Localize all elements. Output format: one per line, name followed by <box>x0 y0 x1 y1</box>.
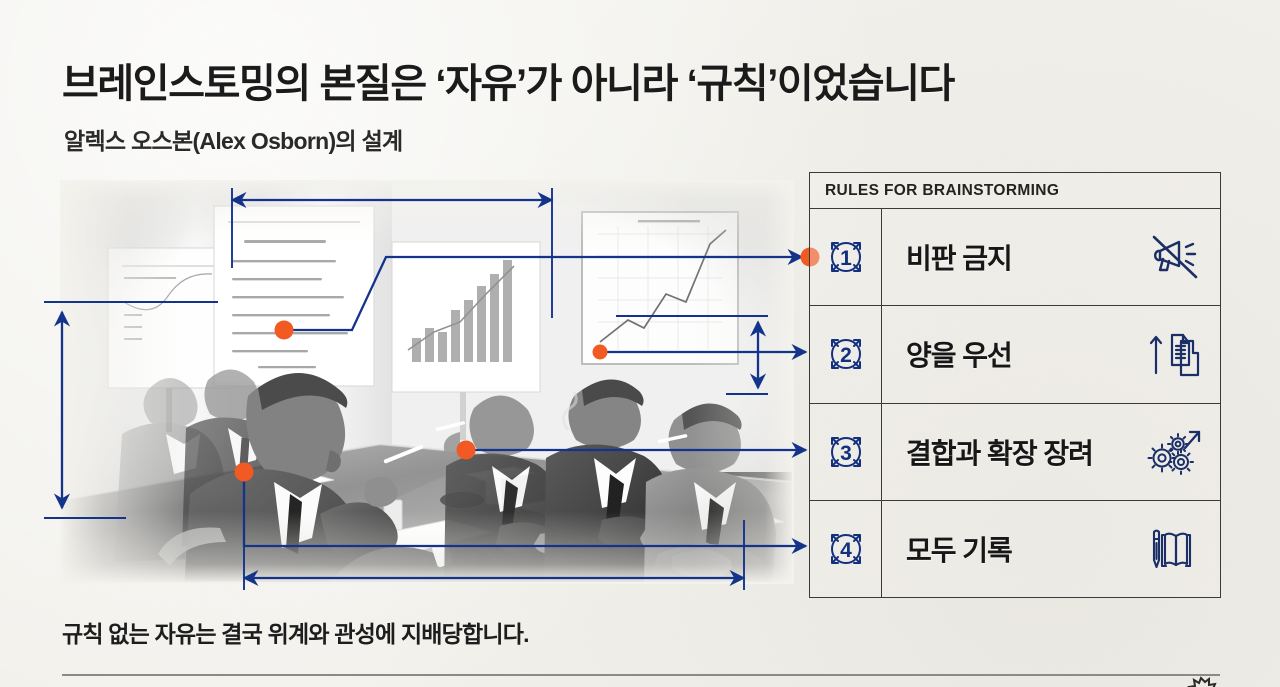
rule-number-2: 2 <box>840 344 852 367</box>
page-subtitle: 알렉스 오스본(Alex Osborn)의 설계 <box>64 122 403 156</box>
rule-row-1[interactable]: 1 비판 금지 <box>810 209 1220 306</box>
boardroom-photo-image <box>62 182 792 582</box>
rule-label-1: 비판 금지 <box>882 237 1136 277</box>
footer-gear-mark-icon <box>1152 676 1224 687</box>
rules-panel: RULES FOR BRAINSTORMING 1 <box>809 172 1221 598</box>
rules-panel-header: RULES FOR BRAINSTORMING <box>810 173 1220 209</box>
rule-label-2: 양을 우선 <box>882 334 1136 374</box>
footer-caption: 규칙 없는 자유는 결국 위계와 관성에 지배당합니다. <box>62 615 529 649</box>
rule-label-4: 모두 기록 <box>882 529 1136 569</box>
rule-row-4[interactable]: 4 모두 기록 <box>810 501 1220 597</box>
rule-label-3: 결합과 확장 장려 <box>882 432 1136 472</box>
slide-canvas: 브레인스토밍의 본질은 ‘자유’가 아니라 ‘규칙’이었습니다 알렉스 오스본(… <box>0 0 1280 687</box>
footer-divider <box>62 674 1220 676</box>
rules-list: 1 비판 금지 <box>810 209 1220 597</box>
arrow-up-documents-icon <box>1136 329 1220 379</box>
page-title: 브레인스토밍의 본질은 ‘자유’가 아니라 ‘규칙’이었습니다 <box>62 51 954 109</box>
rule-number-badge-1: 1 <box>810 209 882 305</box>
rule-number-3: 3 <box>840 442 852 465</box>
rule-number-1: 1 <box>840 247 852 270</box>
boardroom-photo <box>62 182 792 582</box>
gears-arrow-up-icon <box>1136 426 1220 478</box>
rule-number-badge-4: 4 <box>810 501 882 597</box>
rule-row-3[interactable]: 3 결합과 확장 장려 <box>810 404 1220 501</box>
rule-number-4: 4 <box>840 539 852 562</box>
rule-row-2[interactable]: 2 양을 우선 <box>810 306 1220 403</box>
pen-open-book-icon <box>1136 524 1220 574</box>
rule-number-badge-3: 3 <box>810 404 882 500</box>
rule-number-badge-2: 2 <box>810 306 882 402</box>
megaphone-slash-icon <box>1136 233 1220 281</box>
